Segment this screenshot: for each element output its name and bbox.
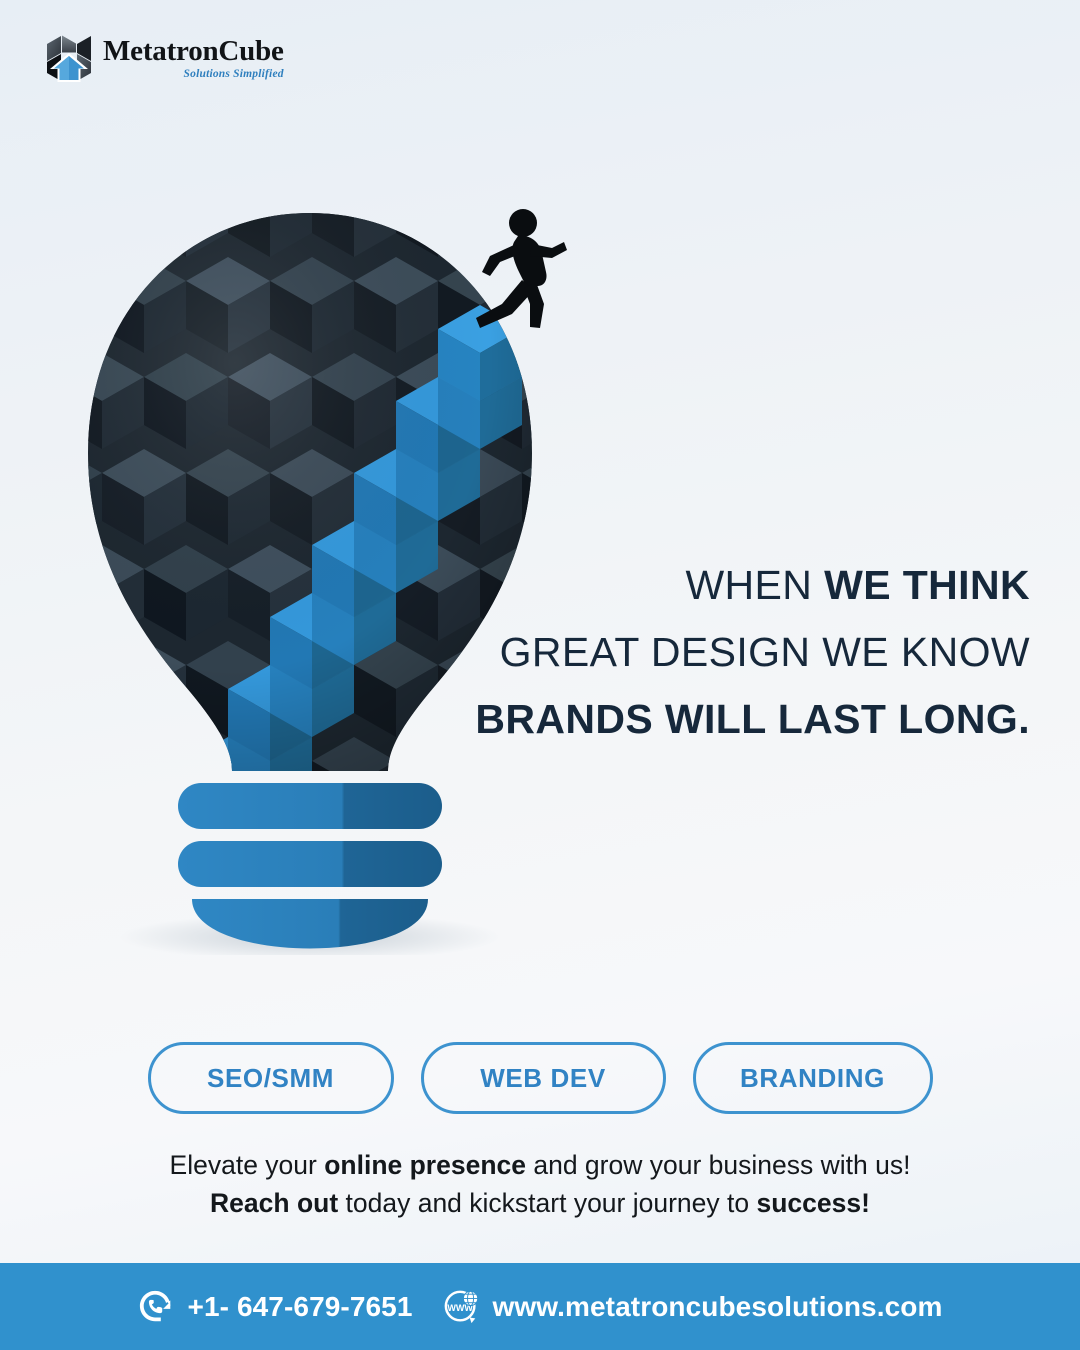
cta-l1-highlight: online presence: [324, 1150, 526, 1180]
cta-line-1: Elevate your online presence and grow yo…: [0, 1146, 1080, 1184]
brand-logo-text: MetatronCube Solutions Simplified: [103, 37, 284, 81]
running-person-silhouette-icon: [460, 200, 590, 350]
pill-web-dev[interactable]: WEB DEV: [421, 1042, 666, 1114]
brand-name: MetatronCube: [103, 37, 284, 66]
headline-line-2: GREAT DESIGN WE KNOW: [470, 619, 1030, 686]
cta-l2-highlight: Reach out: [210, 1188, 338, 1218]
headline-line-3: BRANDS WILL LAST LONG.: [470, 686, 1030, 753]
cta-l1-c: and grow your business with us!: [526, 1150, 910, 1180]
headline-line-1: WHEN WE THINK: [470, 552, 1030, 619]
phone-call-icon: [138, 1288, 176, 1326]
contact-footer: +1- 647-679-7651 WWW www.metatroncubesol…: [0, 1263, 1080, 1350]
brand-tagline: Solutions Simplified: [103, 69, 284, 81]
footer-website[interactable]: WWW www.metatroncubesolutions.com: [443, 1288, 943, 1326]
isometric-cube-logo-icon: [44, 33, 94, 85]
headline: WHEN WE THINK GREAT DESIGN WE KNOW BRAND…: [470, 552, 1030, 753]
www-globe-icon: WWW: [443, 1288, 481, 1326]
cta-line-2: Reach out today and kickstart your journ…: [0, 1184, 1080, 1222]
headline-line1-regular: WHEN: [685, 562, 824, 608]
footer-phone-text: +1- 647-679-7651: [188, 1291, 413, 1323]
brand-logo[interactable]: MetatronCube Solutions Simplified: [44, 33, 284, 85]
service-pill-group: SEO/SMM WEB DEV BRANDING: [0, 1042, 1080, 1114]
poster-canvas: MetatronCube Solutions Simplified: [0, 0, 1080, 1350]
cta-l1-a: Elevate your: [170, 1150, 325, 1180]
pill-branding[interactable]: BRANDING: [693, 1042, 933, 1114]
pill-seo-smm[interactable]: SEO/SMM: [148, 1042, 394, 1114]
cta-tagline: Elevate your online presence and grow yo…: [0, 1146, 1080, 1222]
cta-l2-b: today and kickstart your journey to: [338, 1188, 756, 1218]
footer-website-text: www.metatroncubesolutions.com: [493, 1291, 943, 1323]
cta-l2-success: success!: [756, 1188, 869, 1218]
footer-phone[interactable]: +1- 647-679-7651: [138, 1288, 413, 1326]
headline-line1-bold: WE THINK: [824, 562, 1030, 608]
